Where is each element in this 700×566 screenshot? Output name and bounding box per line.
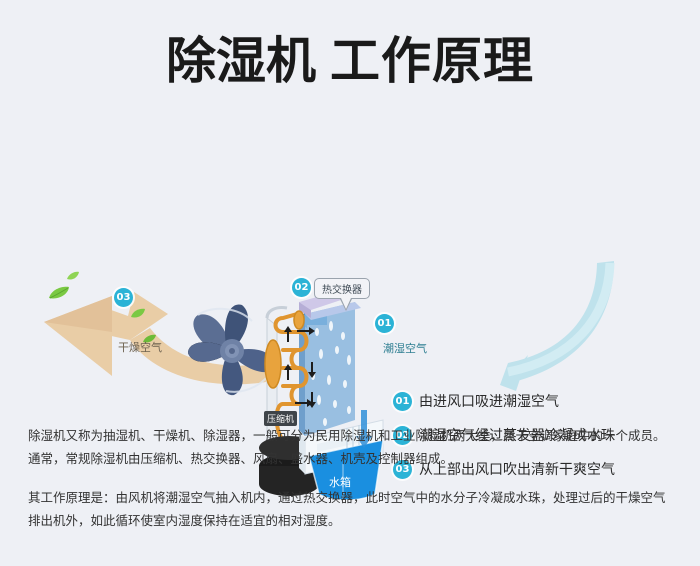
diagram-badge-03: 03	[114, 288, 133, 307]
description-block: 除湿机又称为抽湿机、干燥机、除湿器，一般可分为民用除湿机和工业除湿机两大类，属于…	[28, 424, 676, 532]
page-title-part1: 除湿机	[166, 33, 316, 89]
dry-air-label: 干燥空气	[118, 339, 162, 355]
receiver-tank-icon	[265, 340, 281, 388]
evaporator-panel-icon	[299, 302, 361, 436]
heat-exchanger-callout: 热交换器	[314, 278, 370, 299]
working-principle-diagram: 03 干燥空气 01 潮湿空气 02 热交换器 压缩机 水箱 01 由进风口吸进…	[0, 128, 700, 403]
description-paragraph-2: 其工作原理是：由风机将潮湿空气抽入机内，通过热交换器，此时空气中的水分子冷凝成水…	[28, 486, 676, 532]
legend-item: 01 由进风口吸进潮湿空气	[393, 384, 683, 418]
leaf-icon	[66, 271, 80, 281]
humid-air-label: 潮湿空气	[383, 340, 427, 356]
description-paragraph-1: 除湿机又称为抽湿机、干燥机、除湿器，一般可分为民用除湿机和工业除湿机两大类，属于…	[28, 424, 676, 470]
legend-badge-01: 01	[393, 392, 412, 411]
page-title-part2: 工作原理	[330, 33, 534, 89]
diagram-badge-02: 02	[292, 278, 311, 297]
leaf-icon	[48, 286, 70, 300]
dehumidifier-infographic: 除湿机工作原理	[0, 0, 700, 566]
legend-text-01: 由进风口吸进潮湿空气	[419, 391, 559, 411]
diagram-badge-01: 01	[375, 314, 394, 333]
page-title: 除湿机工作原理	[0, 34, 700, 89]
leaf-icon	[130, 308, 146, 319]
humid-air-arrow-icon	[378, 259, 618, 389]
